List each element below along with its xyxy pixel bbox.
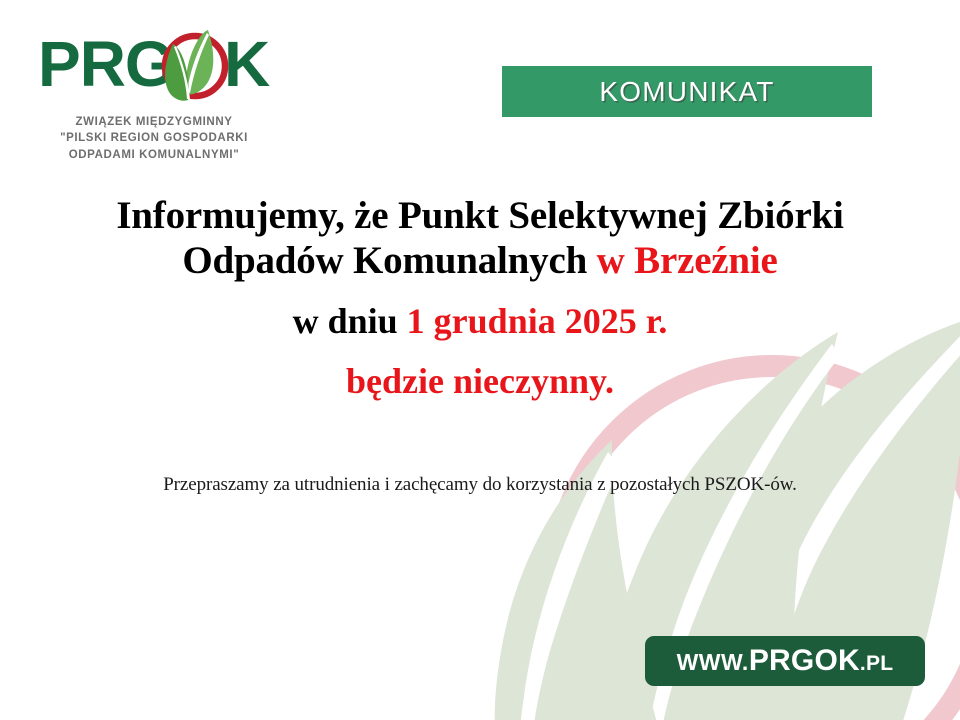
komunikat-banner: KOMUNIKAT bbox=[502, 66, 872, 117]
apology-note: Przepraszamy za utrudnienia i zachęcamy … bbox=[0, 474, 960, 496]
message-line-2: Odpadów Komunalnych w Brzeźnie bbox=[0, 238, 960, 283]
message-line-2-location: w Brzeźnie bbox=[597, 239, 778, 282]
message-line-3: w dniu 1 grudnia 2025 r. bbox=[0, 301, 960, 343]
message-line-3-date: 1 grudnia 2025 r. bbox=[407, 301, 668, 341]
message-line-2-black: Odpadów Komunalnych bbox=[182, 239, 596, 282]
logo-subtitle-line-1: ZWIĄZEK MIĘDZYGMINNY bbox=[38, 114, 270, 130]
website-badge[interactable]: WWW.PRGOK.PL bbox=[645, 636, 925, 686]
website-tld: .PL bbox=[860, 652, 894, 675]
komunikat-banner-label: KOMUNIKAT bbox=[599, 76, 774, 108]
komunikat-poster: PRG K ZWIĄZEK MIĘDZYGMINNY "PILSKI REGIO… bbox=[0, 0, 960, 720]
logo-subtitle-line-3: ODPADAMI KOMUNALNYMI" bbox=[38, 147, 270, 163]
prgok-logo-mark-icon: PRG K bbox=[38, 22, 270, 108]
message-line-3-black: w dniu bbox=[293, 301, 407, 341]
website-badge-text: WWW.PRGOK.PL bbox=[677, 644, 894, 678]
website-name: PRGOK bbox=[749, 644, 860, 677]
logo-subtitle: ZWIĄZEK MIĘDZYGMINNY "PILSKI REGION GOSP… bbox=[38, 114, 270, 163]
logo-subtitle-line-2: "PILSKI REGION GOSPODARKI bbox=[38, 130, 270, 146]
prgok-logo[interactable]: PRG K ZWIĄZEK MIĘDZYGMINNY "PILSKI REGIO… bbox=[38, 22, 298, 163]
svg-text:K: K bbox=[224, 28, 270, 100]
announcement-text: Informujemy, że Punkt Selektywnej Zbiórk… bbox=[0, 193, 960, 403]
website-prefix: WWW. bbox=[677, 649, 749, 675]
message-line-1: Informujemy, że Punkt Selektywnej Zbiórk… bbox=[0, 193, 960, 238]
svg-text:PRG: PRG bbox=[38, 28, 174, 100]
message-line-4-status: będzie nieczynny. bbox=[0, 361, 960, 403]
